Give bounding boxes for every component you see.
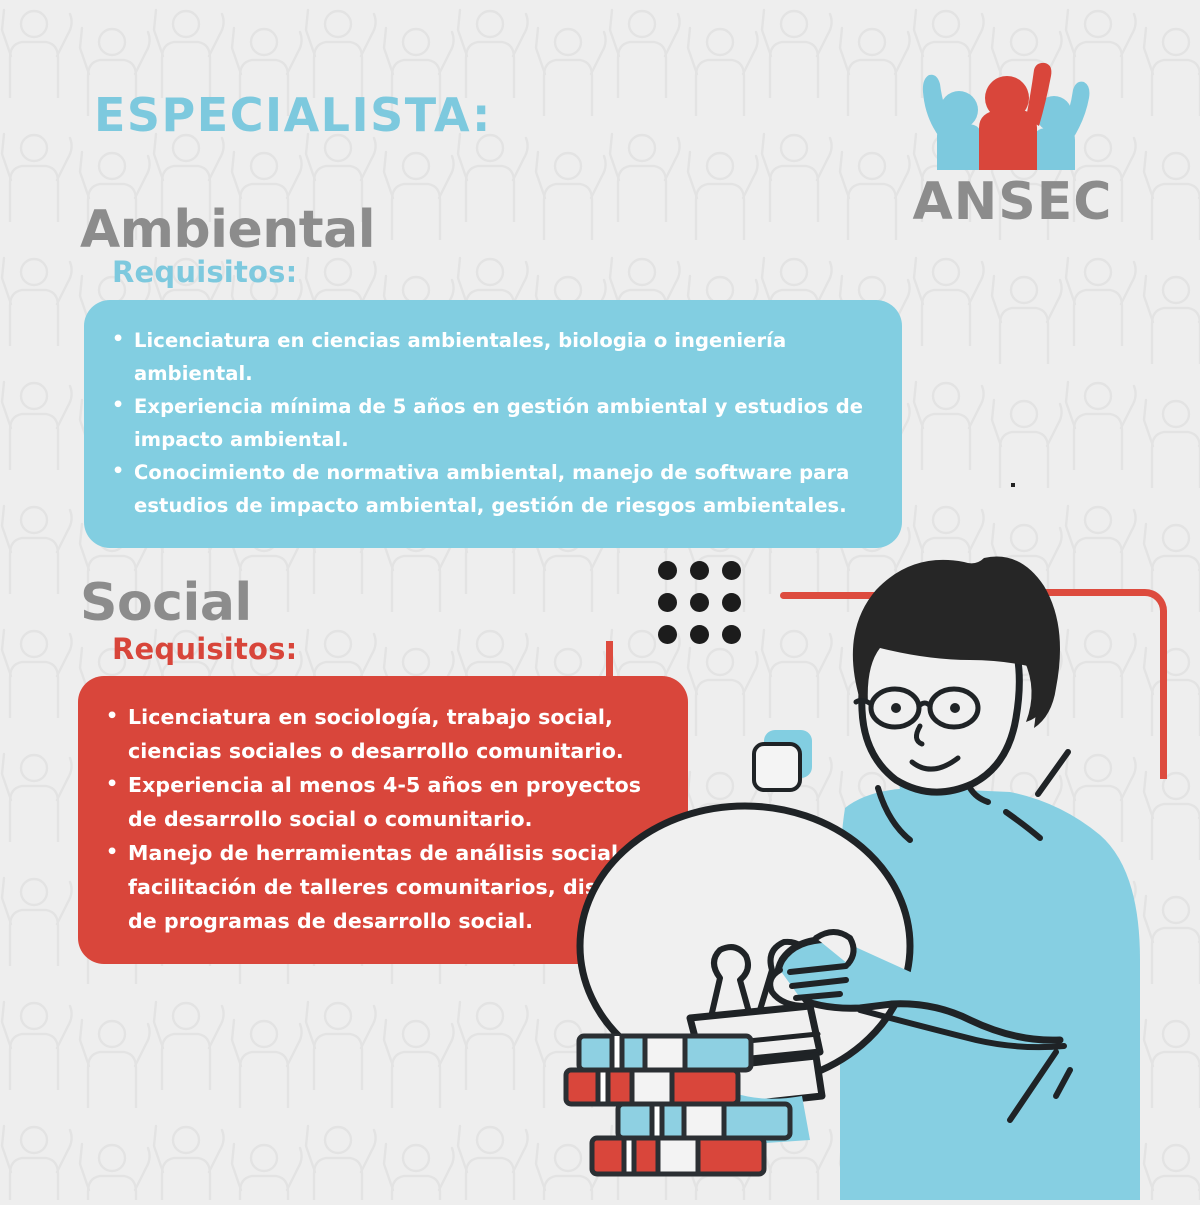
section-title-social: Social [80,573,252,633]
book-row [618,1104,790,1138]
list-item: Conocimiento de normativa ambiental, man… [110,456,868,522]
section-title-ambiental: Ambiental [80,200,375,260]
book-row [592,1138,764,1174]
list-item: Experiencia mínima de 5 años en gestión … [110,390,868,456]
list-item: Licenciatura en ciencias ambientales, bi… [110,324,868,390]
requirements-list-ambiental: Licenciatura en ciencias ambientales, bi… [110,324,868,522]
ansec-logo-figures-icon [895,62,1130,174]
stray-dot-artifact [1011,483,1015,487]
page-headline: ESPECIALISTA: [94,88,492,142]
book-row [566,1070,738,1104]
requisitos-label-social: Requisitos: [112,632,297,666]
ansec-wordmark: ANSEC [895,172,1130,232]
requisitos-label-ambiental: Requisitos: [112,255,297,289]
book-row [579,1036,751,1070]
stacked-books-illustration [560,1020,840,1205]
ansec-logo: ANSEC [895,62,1130,232]
requirements-box-ambiental: Licenciatura en ciencias ambientales, bi… [84,300,902,548]
